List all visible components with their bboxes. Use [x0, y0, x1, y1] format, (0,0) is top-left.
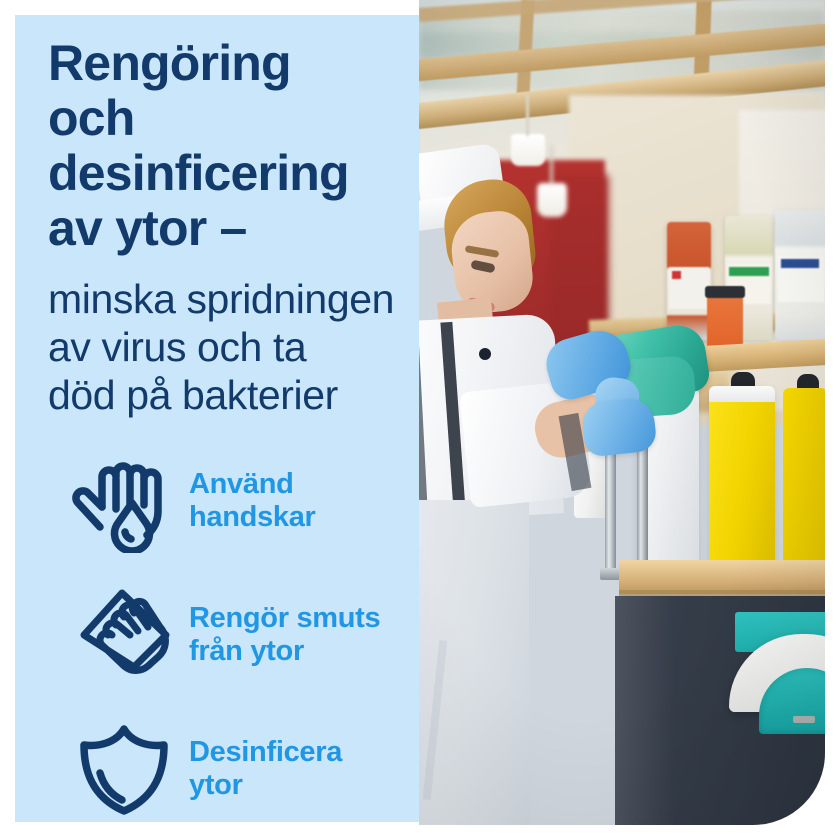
page-subtitle: minska spridningen av virus och ta död p… [48, 275, 419, 419]
chef-apron [419, 500, 529, 825]
shield-icon [65, 710, 183, 822]
step-2-label-line-1: Rengör smuts [189, 602, 380, 635]
hand-with-droplet-icon [65, 442, 183, 560]
hand-wiping-cloth-icon [65, 576, 183, 694]
list-item: Desinficera ytor [65, 708, 415, 822]
chef-jacket-button [479, 348, 491, 360]
dispenser-yellow [709, 386, 775, 576]
pendant-lamp-2 [537, 183, 567, 217]
step-3-label-line-2: ytor [189, 769, 342, 802]
hero-photo [419, 0, 825, 825]
napkin-dispenser-window [759, 668, 825, 734]
step-1-label-line-1: Använd [189, 468, 316, 501]
step-label: Desinficera ytor [183, 736, 342, 802]
counter-worktop-lower [619, 560, 825, 594]
page-title: Rengöring och desinficering av ytor – [48, 36, 418, 256]
dispenser-yellow-second [783, 388, 825, 576]
pendant-lamp-1 [511, 134, 545, 166]
counter-pole-base-left [600, 568, 621, 580]
teal-napkin-dispenser [729, 612, 825, 712]
step-3-label-line-1: Desinficera [189, 736, 342, 769]
subheading-line-2: av virus och ta [48, 323, 419, 371]
list-item: Använd handskar [65, 440, 415, 562]
jar-clear [775, 210, 825, 340]
headline-line-2: och [48, 91, 418, 146]
step-2-label-line-2: från ytor [189, 635, 380, 668]
steps-list: Använd handskar Rengör smuts [65, 440, 415, 822]
step-label: Rengör smuts från ytor [183, 602, 380, 668]
jar-chili-flakes [667, 222, 711, 340]
info-panel: Rengöring och desinficering av ytor – mi… [15, 15, 419, 822]
counter-front-highlight [615, 596, 675, 825]
headline-line-3: desinficering [48, 146, 418, 201]
poster-root: Rengöring och desinficering av ytor – mi… [0, 0, 840, 840]
headline-line-4: av ytor – [48, 201, 418, 256]
headline-line-1: Rengöring [48, 36, 418, 91]
subheading-line-1: minska spridningen [48, 275, 419, 323]
blue-glove-lower [580, 396, 657, 457]
step-label: Använd handskar [183, 468, 316, 534]
brand-logo [793, 716, 815, 723]
list-item: Rengör smuts från ytor [65, 574, 415, 696]
subheading-line-3: död på bakterier [48, 371, 419, 419]
step-1-label-line-2: handskar [189, 501, 316, 534]
